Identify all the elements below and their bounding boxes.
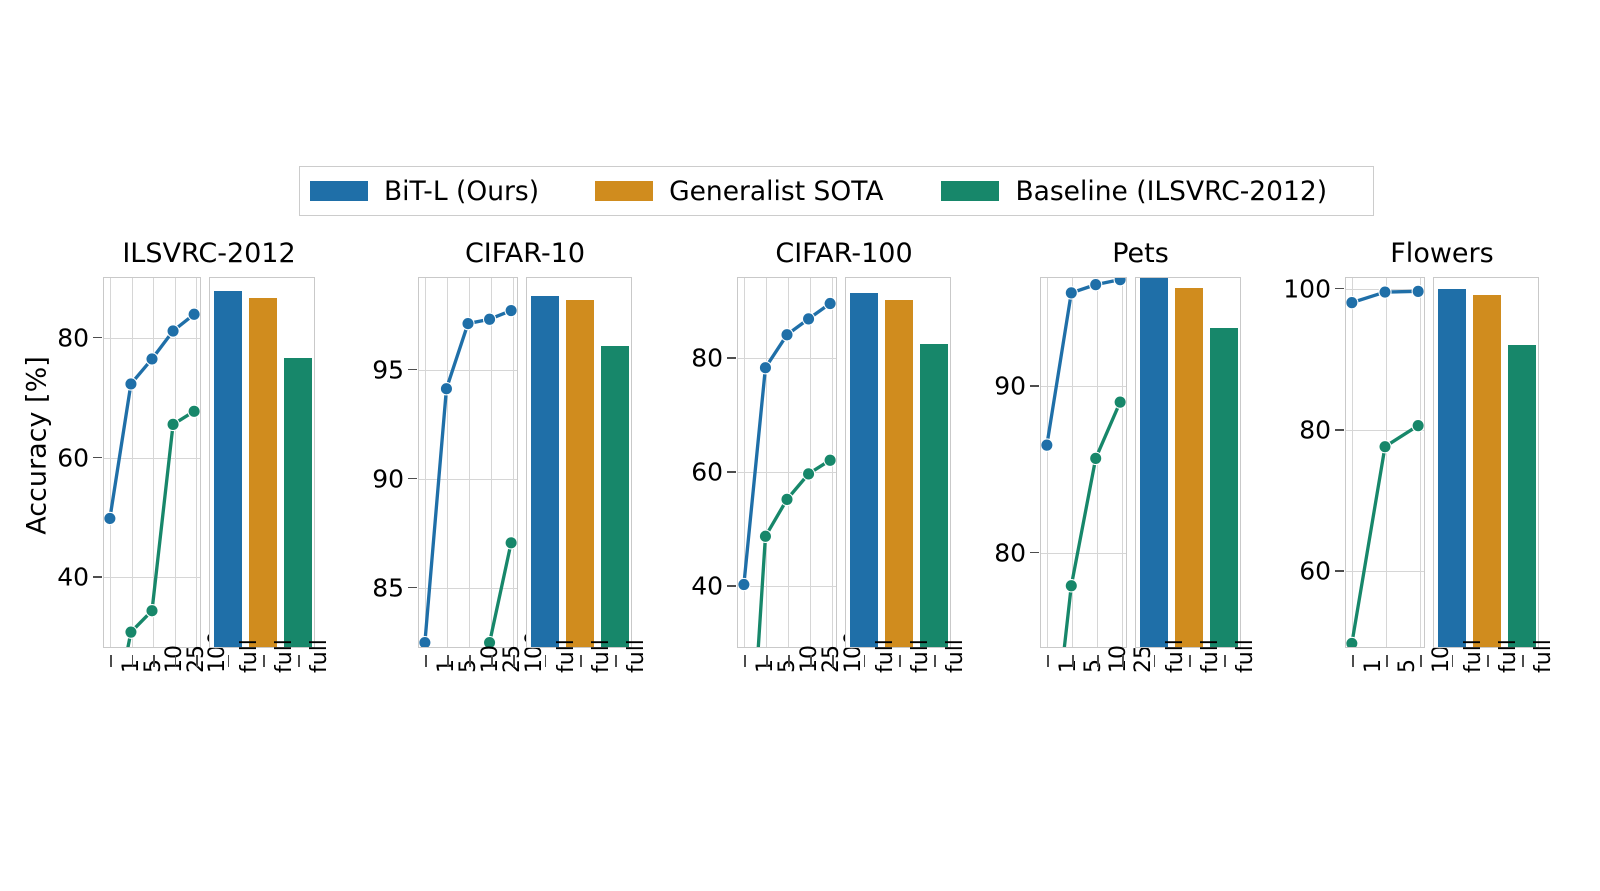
y-tick-label: 40: [0, 563, 89, 592]
y-tick-label: 100: [1146, 274, 1331, 303]
x-tick-label: full: [1531, 639, 1556, 673]
data-point: [759, 362, 771, 374]
legend-item-baseline: Baseline (ILSVRC-2012): [941, 176, 1327, 207]
y-tick-label: 40: [538, 572, 723, 601]
x-tick-mark: [469, 655, 471, 667]
y-tick-mark: [408, 478, 417, 480]
x-tick-mark: [545, 655, 547, 667]
data-point: [146, 605, 158, 617]
data-point: [188, 405, 200, 417]
data-point: [440, 383, 452, 395]
x-tick-mark: [298, 655, 300, 667]
legend-item-bit-l: BiT-L (Ours): [310, 176, 539, 207]
y-tick-mark: [408, 369, 417, 371]
x-tick-mark: [810, 655, 812, 667]
x-tick-mark: [615, 655, 617, 667]
data-point: [1090, 452, 1102, 464]
data-point: [104, 512, 116, 524]
x-tick-mark: [263, 655, 265, 667]
y-tick-mark: [1335, 429, 1344, 431]
bar-baseline-ilsvrc-2012: [284, 358, 312, 647]
x-tick-mark: [1386, 655, 1388, 667]
series-lines: [104, 278, 200, 647]
x-tick-mark: [228, 655, 230, 667]
x-tick-label: full: [908, 639, 933, 673]
x-tick-label: 5: [1081, 659, 1106, 673]
x-tick-mark: [580, 655, 582, 667]
full-data-axes: fullfullfull: [845, 277, 951, 648]
y-tick-label: 90: [219, 464, 404, 493]
series-line: [744, 304, 830, 585]
data-point: [1346, 296, 1358, 308]
x-tick-label: full: [1496, 639, 1521, 673]
data-point: [1346, 637, 1358, 647]
y-tick-mark: [727, 585, 736, 587]
bars-plot-area: [846, 278, 950, 647]
data-point: [462, 317, 474, 329]
x-tick-mark: [1072, 655, 1074, 667]
y-tick-label: 80: [538, 343, 723, 372]
y-tick-label: 85: [219, 573, 404, 602]
y-tick-mark: [727, 357, 736, 359]
series-line: [756, 460, 830, 647]
x-tick-mark: [491, 655, 493, 667]
data-point: [802, 313, 814, 325]
y-tick-label: 60: [538, 458, 723, 487]
series-line: [425, 311, 511, 643]
series-lines: [1041, 278, 1126, 647]
panel-title: CIFAR-10: [418, 238, 632, 269]
series-line: [1061, 402, 1120, 647]
data-point: [802, 468, 814, 480]
x-tick-mark: [1352, 655, 1354, 667]
bar-generalist-sota: [1175, 288, 1203, 647]
x-tick-mark: [153, 655, 155, 667]
x-tick-label: full: [272, 639, 297, 673]
bar-baseline-ilsvrc-2012: [601, 346, 629, 647]
legend-swatch-baseline: [941, 181, 999, 201]
y-tick-mark: [727, 471, 736, 473]
x-tick-mark: [1452, 655, 1454, 667]
x-tick-mark: [110, 655, 112, 667]
bar-bit-l-ours: [1140, 278, 1168, 647]
data-point: [505, 304, 517, 316]
legend-label-bit-l: BiT-L (Ours): [384, 176, 539, 207]
bars-plot-area: [1434, 278, 1538, 647]
legend-swatch-generalist-sota: [595, 181, 653, 201]
x-tick-mark: [934, 655, 936, 667]
fewshot-plot-area: [738, 278, 836, 647]
data-point: [483, 313, 495, 325]
x-tick-mark: [1097, 655, 1099, 667]
x-tick-label: 5: [1395, 659, 1420, 673]
bar-generalist-sota: [1473, 295, 1501, 647]
y-tick-mark: [1335, 570, 1344, 572]
fewshot-axes: 406080151025100: [737, 277, 837, 648]
data-point: [167, 418, 179, 430]
fewshot-plot-area: [104, 278, 200, 647]
x-tick-mark: [864, 655, 866, 667]
data-point: [738, 578, 750, 590]
bar-baseline-ilsvrc-2012: [1508, 345, 1536, 647]
fewshot-axes: 60801001510: [1345, 277, 1425, 648]
x-tick-mark: [1487, 655, 1489, 667]
x-tick-mark: [766, 655, 768, 667]
series-line: [481, 543, 512, 647]
legend-item-generalist-sota: Generalist SOTA: [595, 176, 883, 207]
y-tick-label: 95: [219, 355, 404, 384]
fewshot-plot-area: [419, 278, 517, 647]
y-tick-mark: [1030, 552, 1039, 554]
bar-bit-l-ours: [1438, 289, 1466, 647]
bars-plot-area: [1136, 278, 1240, 647]
x-tick-mark: [1047, 655, 1049, 667]
data-point: [781, 493, 793, 505]
x-tick-label: 1: [1361, 659, 1386, 673]
y-tick-mark: [93, 457, 102, 459]
y-tick-label: 60: [1146, 557, 1331, 586]
data-point: [419, 636, 431, 647]
x-tick-mark: [1522, 655, 1524, 667]
y-tick-mark: [93, 337, 102, 339]
full-data-axes: fullfullfull: [1135, 277, 1241, 648]
data-point: [1379, 286, 1391, 298]
fewshot-axes: 406080151025100: [103, 277, 201, 648]
fewshot-axes: 859095151025100: [418, 277, 518, 648]
x-tick-label: 10: [1106, 645, 1131, 673]
panel-title: Flowers: [1345, 238, 1539, 269]
data-point: [125, 626, 137, 638]
data-point: [188, 308, 200, 320]
x-tick-label: full: [1198, 639, 1223, 673]
bar-baseline-ilsvrc-2012: [1210, 328, 1238, 647]
panel-title: Pets: [1040, 238, 1241, 269]
x-tick-mark: [1189, 655, 1191, 667]
data-point: [759, 530, 771, 542]
data-point: [1412, 419, 1424, 431]
x-tick-mark: [425, 655, 427, 667]
x-tick-mark: [1420, 655, 1422, 667]
x-tick-mark: [899, 655, 901, 667]
series-lines: [1346, 278, 1424, 647]
x-tick-mark: [132, 655, 134, 667]
data-point: [1379, 441, 1391, 453]
x-tick-label: 25: [1131, 645, 1156, 673]
fewshot-axes: 8090151025: [1040, 277, 1127, 648]
data-point: [125, 378, 137, 390]
data-point: [824, 297, 836, 309]
full-data-axes: fullfullfull: [1433, 277, 1539, 648]
y-tick-label: 80: [1146, 415, 1331, 444]
y-tick-label: 60: [0, 443, 89, 472]
legend-label-baseline: Baseline (ILSVRC-2012): [1015, 176, 1327, 207]
x-tick-label: full: [943, 639, 968, 673]
x-tick-label: full: [1163, 639, 1188, 673]
x-tick-label: full: [237, 639, 262, 673]
y-tick-mark: [93, 576, 102, 578]
x-tick-mark: [744, 655, 746, 667]
series-lines: [419, 278, 517, 647]
fewshot-plot-area: [1346, 278, 1424, 647]
data-point: [781, 329, 793, 341]
panel-title: ILSVRC-2012: [103, 238, 315, 269]
bar-generalist-sota: [885, 300, 913, 647]
legend-swatch-bit-l: [310, 181, 368, 201]
x-tick-label: full: [589, 639, 614, 673]
data-point: [1065, 580, 1077, 592]
x-tick-mark: [513, 655, 515, 667]
y-tick-label: 80: [841, 538, 1026, 567]
x-tick-label: full: [307, 639, 332, 673]
panel-title: CIFAR-100: [737, 238, 951, 269]
data-point: [1041, 439, 1053, 451]
data-point: [1114, 278, 1126, 286]
y-tick-mark: [1030, 385, 1039, 387]
data-point: [146, 353, 158, 365]
x-tick-label: 10: [1429, 645, 1454, 673]
series-lines: [738, 278, 836, 647]
series-line: [1047, 280, 1120, 445]
series-line: [110, 314, 194, 518]
x-tick-label: full: [624, 639, 649, 673]
x-tick-label: full: [1233, 639, 1258, 673]
x-tick-mark: [175, 655, 177, 667]
bar-bit-l-ours: [850, 293, 878, 647]
data-point: [1114, 396, 1126, 408]
x-tick-label: full: [1461, 639, 1486, 673]
x-tick-mark: [1154, 655, 1156, 667]
data-point: [824, 454, 836, 466]
data-point: [505, 537, 517, 549]
chart-legend: BiT-L (Ours) Generalist SOTA Baseline (I…: [299, 166, 1374, 216]
y-tick-mark: [408, 587, 417, 589]
fewshot-plot-area: [1041, 278, 1126, 647]
x-tick-mark: [447, 655, 449, 667]
data-point: [1090, 278, 1102, 290]
series-line: [1352, 426, 1418, 644]
y-tick-label: 80: [0, 323, 89, 352]
y-tick-mark: [1335, 288, 1344, 290]
data-point: [1065, 287, 1077, 299]
x-tick-label: full: [554, 639, 579, 673]
x-tick-label: 1: [1056, 659, 1081, 673]
x-tick-label: full: [873, 639, 898, 673]
legend-label-generalist-sota: Generalist SOTA: [669, 176, 883, 207]
data-point: [167, 325, 179, 337]
x-tick-mark: [1122, 655, 1124, 667]
x-tick-mark: [196, 655, 198, 667]
data-point: [1412, 285, 1424, 297]
x-tick-mark: [832, 655, 834, 667]
x-tick-mark: [1224, 655, 1226, 667]
x-tick-mark: [788, 655, 790, 667]
y-tick-label: 90: [841, 372, 1026, 401]
